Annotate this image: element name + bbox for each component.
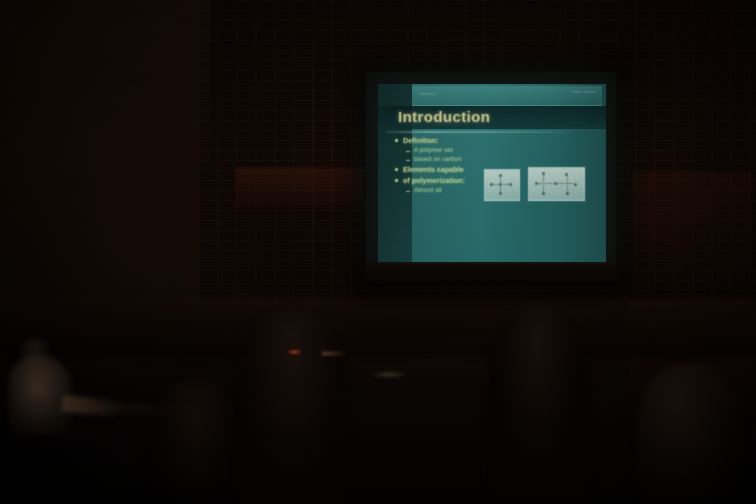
molecular-diagram-right — [528, 167, 585, 201]
slide-header-band: Chemistry Polymer Science — [412, 86, 602, 106]
lecture-hall-scene: Chemistry Polymer Science Introduction D… — [0, 0, 756, 504]
wall-panel-right-upper — [632, 172, 752, 291]
projection-screen[interactable]: Chemistry Polymer Science Introduction D… — [378, 84, 606, 264]
projection-screen-frame: Chemistry Polymer Science Introduction D… — [366, 72, 616, 284]
screen-lower-frame — [366, 262, 616, 286]
slide-header-right-text: Polymer Science — [571, 90, 596, 95]
left-wall — [0, 0, 210, 290]
slide-title: Introduction — [398, 108, 490, 127]
amber-indicator-strip — [322, 352, 348, 355]
floor-shadow-band — [0, 296, 756, 356]
slide-title-underline — [386, 131, 572, 133]
wall-panel-left — [236, 168, 364, 210]
red-indicator-light — [288, 350, 301, 354]
slide-header-left-text: Chemistry — [418, 92, 436, 96]
bullet-item: Definition: — [394, 136, 510, 145]
attendee-mid-left — [150, 380, 240, 504]
green-indicator-light — [372, 372, 406, 377]
bullet-item: A polymer set — [394, 147, 510, 155]
attendee-far-right — [636, 364, 744, 504]
molecular-diagram-left — [484, 169, 520, 201]
attendee-right-silhouette — [486, 304, 590, 504]
bullet-item: based on carbon — [394, 156, 510, 164]
attendee-center-silhouette — [236, 308, 348, 504]
